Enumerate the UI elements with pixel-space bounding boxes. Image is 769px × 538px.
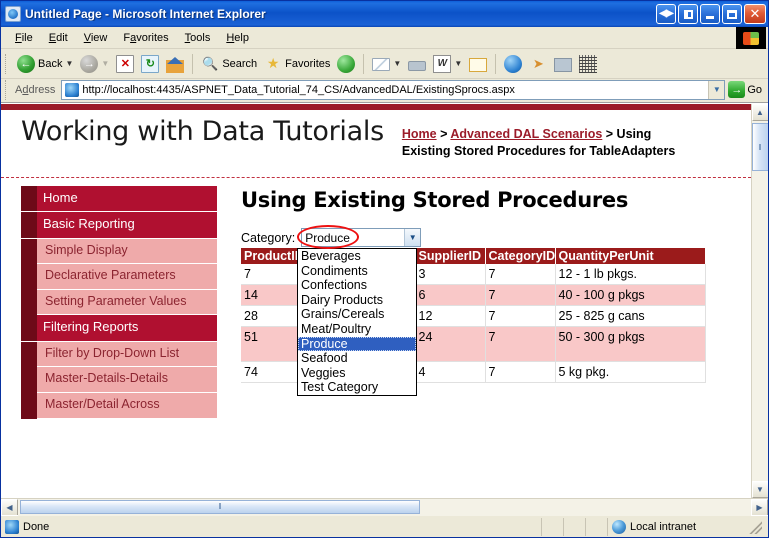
main-content: Using Existing Stored Procedures Categor… bbox=[241, 186, 751, 383]
menu-item-edit[interactable]: Edit bbox=[41, 30, 76, 46]
dropdown-option-test-category[interactable]: Test Category bbox=[298, 380, 416, 395]
dropdown-option-confections[interactable]: Confections bbox=[298, 278, 416, 293]
cell-quantityperunit: 50 - 300 g pkgs bbox=[555, 327, 705, 362]
maximize-icon bbox=[727, 10, 737, 19]
breadcrumb: Home > Advanced DAL Scenarios > Using Ex… bbox=[402, 116, 692, 159]
cell-supplierid: 24 bbox=[415, 327, 485, 362]
scroll-right-button[interactable]: ▶ bbox=[751, 499, 768, 516]
media-icon bbox=[337, 55, 355, 73]
sidebar-item-home[interactable]: Home bbox=[21, 186, 217, 212]
cell-supplierid: 4 bbox=[415, 362, 485, 383]
window-controls: ◀▶ ✕ bbox=[656, 4, 766, 24]
vertical-scroll-thumb[interactable]: ‖ bbox=[752, 123, 769, 171]
minimize-button[interactable] bbox=[700, 4, 720, 24]
close-icon: ✕ bbox=[750, 8, 761, 21]
cell-categoryid: 7 bbox=[485, 306, 555, 327]
grip-icon: ‖ bbox=[758, 143, 761, 152]
favorites-button[interactable]: ★ Favorites bbox=[261, 53, 333, 75]
research-icon bbox=[554, 58, 572, 72]
encoding-button[interactable] bbox=[576, 53, 600, 75]
dropdown-option-dairy-products[interactable]: Dairy Products bbox=[298, 293, 416, 308]
address-bar: Address http://localhost:4435/ASPNET_Dat… bbox=[1, 79, 768, 103]
menu-item-favorites[interactable]: Favorites bbox=[115, 30, 176, 46]
go-button[interactable]: → Go bbox=[725, 81, 766, 98]
cell-quantityperunit: 5 kg pkg. bbox=[555, 362, 705, 383]
address-url-text: http://localhost:4435/ASPNET_Data_Tutori… bbox=[82, 84, 708, 96]
stop-button[interactable]: ✕ bbox=[113, 53, 137, 75]
search-button[interactable]: 🔍 Search bbox=[198, 53, 260, 75]
address-input[interactable]: http://localhost:4435/ASPNET_Data_Tutori… bbox=[61, 80, 725, 100]
dropdown-option-condiments[interactable]: Condiments bbox=[298, 264, 416, 279]
menu-item-help[interactable]: Help bbox=[218, 30, 257, 46]
go-arrow-icon: → bbox=[728, 81, 745, 98]
page-body: Home Basic Reporting Simple Display Decl… bbox=[1, 178, 751, 419]
research-button[interactable] bbox=[551, 54, 575, 74]
address-dropdown-button[interactable]: ▼ bbox=[708, 81, 724, 99]
menu-item-file[interactable]: File bbox=[7, 30, 41, 46]
scroll-left-button[interactable]: ◀ bbox=[1, 499, 18, 516]
back-label: Back bbox=[38, 58, 62, 70]
dropdown-option-produce[interactable]: Produce bbox=[298, 337, 416, 352]
chevron-down-icon: ▼ bbox=[756, 485, 764, 494]
category-dropdown[interactable]: Produce ▼ bbox=[301, 228, 421, 247]
chevron-right-icon: ▶ bbox=[756, 503, 762, 512]
category-selected-value: Produce bbox=[302, 231, 404, 245]
notes-button[interactable] bbox=[466, 54, 490, 74]
encoding-icon bbox=[579, 55, 597, 73]
notes-icon bbox=[469, 58, 487, 72]
address-grip[interactable] bbox=[5, 80, 10, 100]
mail-button[interactable]: ▼ bbox=[369, 54, 404, 73]
edit-with-word-button[interactable]: W ▼ bbox=[430, 53, 465, 75]
scroll-down-button[interactable]: ▼ bbox=[752, 481, 769, 498]
cell-quantityperunit: 12 - 1 lb pkgs. bbox=[555, 264, 705, 285]
cell-categoryid: 7 bbox=[485, 327, 555, 362]
scroll-up-button[interactable]: ▲ bbox=[752, 104, 769, 121]
dropdown-option-veggies[interactable]: Veggies bbox=[298, 366, 416, 381]
status-pane-3 bbox=[586, 518, 608, 536]
sidebar-item-setting-parameter-values[interactable]: Setting Parameter Values bbox=[37, 290, 217, 316]
column-header-supplierid[interactable]: SupplierID bbox=[415, 248, 485, 264]
horizontal-scrollbar[interactable]: ◀ ‖ ▶ bbox=[1, 498, 768, 515]
cell-productid: 74 bbox=[241, 362, 297, 383]
breadcrumb-sep: > bbox=[602, 127, 616, 141]
status-pane-2 bbox=[564, 518, 586, 536]
sidebar-nav: Home Basic Reporting Simple Display Decl… bbox=[21, 186, 217, 419]
sidebar-item-master-detail-across[interactable]: Master/Detail Across bbox=[37, 393, 217, 419]
dropdown-option-meat-poultry[interactable]: Meat/Poultry bbox=[298, 322, 416, 337]
chevron-down-icon: ▼ bbox=[101, 59, 109, 68]
go-label: Go bbox=[747, 84, 762, 96]
menu-bar: File Edit View Favorites Tools Help bbox=[1, 27, 768, 49]
mail-icon bbox=[372, 58, 390, 71]
ie-browser-window: Untitled Page - Microsoft Internet Explo… bbox=[0, 0, 769, 538]
back-icon: ← bbox=[17, 55, 35, 73]
standard-toolbar: ← Back ▼ → ▼ ✕ ↻ 🔍 Search ★ Favorites bbox=[1, 49, 768, 79]
column-header-productid[interactable]: ProductID bbox=[241, 248, 297, 264]
toolbar-separator bbox=[363, 54, 364, 74]
security-zone-text: Local intranet bbox=[630, 521, 696, 533]
web-page-content: Working with Data Tutorials Home > Advan… bbox=[1, 104, 751, 498]
cell-categoryid: 7 bbox=[485, 285, 555, 306]
menu-item-tools[interactable]: Tools bbox=[177, 30, 219, 46]
left-right-arrows-icon: ◀▶ bbox=[659, 9, 672, 19]
back-button[interactable]: ← Back ▼ bbox=[14, 53, 76, 75]
home-button[interactable] bbox=[163, 53, 187, 75]
toolbar-separator bbox=[495, 54, 496, 74]
messenger-button[interactable] bbox=[501, 53, 525, 75]
restore-icon bbox=[684, 10, 693, 19]
chevron-down-icon[interactable]: ▼ bbox=[404, 229, 420, 246]
maximize-button[interactable] bbox=[722, 4, 742, 24]
status-text: Done bbox=[23, 521, 49, 533]
chevron-down-icon: ▼ bbox=[65, 59, 73, 68]
page-viewport: Working with Data Tutorials Home > Advan… bbox=[1, 103, 768, 498]
toolbar-separator bbox=[192, 54, 193, 74]
search-icon: 🔍 bbox=[201, 55, 219, 73]
chevron-up-icon: ▲ bbox=[756, 108, 764, 117]
page-icon bbox=[5, 520, 19, 534]
grip-icon: ‖ bbox=[218, 502, 221, 511]
address-label: Address bbox=[13, 84, 61, 96]
chevron-left-icon: ◀ bbox=[6, 503, 12, 512]
toolbar-grip[interactable] bbox=[5, 54, 10, 74]
globe-icon bbox=[612, 520, 626, 534]
page-icon bbox=[65, 83, 79, 97]
category-dropdown-options[interactable]: Beverages Condiments Confections Dairy P… bbox=[297, 248, 417, 396]
cell-quantityperunit: 25 - 825 g cans bbox=[555, 306, 705, 327]
status-message-pane: Done bbox=[1, 518, 542, 536]
dropdown-option-seafood[interactable]: Seafood bbox=[298, 351, 416, 366]
windows-logo-icon bbox=[736, 27, 766, 49]
forward-icon: → bbox=[80, 55, 98, 73]
refresh-icon: ↻ bbox=[141, 55, 159, 73]
resize-grip-icon[interactable] bbox=[748, 520, 762, 534]
chevron-down-icon: ▼ bbox=[713, 85, 721, 94]
page-header: Working with Data Tutorials Home > Advan… bbox=[1, 110, 751, 178]
media-button[interactable] bbox=[334, 53, 358, 75]
edit-with-word-icon: W bbox=[433, 55, 451, 73]
site-title: Working with Data Tutorials bbox=[21, 116, 384, 148]
search-label: Search bbox=[222, 58, 257, 70]
column-header-categoryid[interactable]: CategoryID bbox=[485, 248, 555, 264]
chevron-down-icon: ▼ bbox=[393, 59, 401, 68]
cell-categoryid: 7 bbox=[485, 264, 555, 285]
page-title: Using Existing Stored Procedures bbox=[241, 188, 745, 212]
horizontal-scroll-track[interactable]: ‖ bbox=[18, 499, 751, 516]
sidebar-item-simple-display[interactable]: Simple Display bbox=[37, 239, 217, 265]
breadcrumb-link-home[interactable]: Home bbox=[402, 127, 437, 141]
messenger-icon bbox=[504, 55, 522, 73]
chevron-down-icon: ▼ bbox=[454, 59, 462, 68]
restore-down-button[interactable] bbox=[678, 4, 698, 24]
stop-icon: ✕ bbox=[116, 55, 134, 73]
restore-split-button[interactable]: ◀▶ bbox=[656, 4, 676, 24]
status-bar: Done Local intranet bbox=[1, 515, 768, 537]
breadcrumb-sep: > bbox=[437, 127, 451, 141]
cell-supplierid: 12 bbox=[415, 306, 485, 327]
print-icon bbox=[408, 61, 426, 71]
title-bar: Untitled Page - Microsoft Internet Explo… bbox=[1, 1, 768, 27]
real-player-button[interactable]: ➤ bbox=[526, 53, 550, 75]
sidebar-item-filter-by-drop-down-list[interactable]: Filter by Drop-Down List bbox=[37, 342, 217, 368]
breadcrumb-link-section[interactable]: Advanced DAL Scenarios bbox=[450, 127, 602, 141]
forward-button[interactable]: → ▼ bbox=[77, 53, 112, 75]
print-button[interactable] bbox=[405, 55, 429, 73]
sidebar-item-master-details-details[interactable]: Master-Details-Details bbox=[37, 367, 217, 393]
status-pane-1 bbox=[542, 518, 564, 536]
cell-categoryid: 7 bbox=[485, 362, 555, 383]
cell-supplierid: 3 bbox=[415, 264, 485, 285]
cell-productid: 7 bbox=[241, 264, 297, 285]
close-button[interactable]: ✕ bbox=[744, 4, 766, 24]
minimize-icon bbox=[706, 16, 714, 19]
home-icon bbox=[166, 55, 184, 73]
favorites-star-icon: ★ bbox=[264, 55, 282, 73]
cell-supplierid: 6 bbox=[415, 285, 485, 306]
menu-item-view[interactable]: View bbox=[76, 30, 116, 46]
sidebar-item-filtering-reports[interactable]: Filtering Reports bbox=[21, 315, 217, 341]
window-title: Untitled Page - Microsoft Internet Explo… bbox=[25, 7, 656, 21]
cell-productid: 14 bbox=[241, 285, 297, 306]
category-filter-row: Category: Produce ▼ Beverages Condiments… bbox=[241, 228, 745, 247]
column-header-quantityperunit[interactable]: QuantityPerUnit bbox=[555, 248, 705, 264]
vertical-scrollbar[interactable]: ▲ ‖ ▼ bbox=[751, 104, 768, 498]
dropdown-option-beverages[interactable]: Beverages bbox=[298, 249, 416, 264]
cell-productid: 28 bbox=[241, 306, 297, 327]
real-icon: ➤ bbox=[529, 55, 547, 73]
refresh-button[interactable]: ↻ bbox=[138, 53, 162, 75]
ie-window-icon bbox=[5, 6, 21, 22]
cell-quantityperunit: 40 - 100 g pkgs bbox=[555, 285, 705, 306]
horizontal-scroll-thumb[interactable]: ‖ bbox=[20, 500, 420, 514]
sidebar-item-basic-reporting[interactable]: Basic Reporting bbox=[21, 212, 217, 238]
category-label: Category: bbox=[241, 231, 295, 245]
security-zone-pane[interactable]: Local intranet bbox=[608, 518, 768, 536]
cell-productid: 51 bbox=[241, 327, 297, 362]
dropdown-option-grains-cereals[interactable]: Grains/Cereals bbox=[298, 307, 416, 322]
sidebar-item-declarative-parameters[interactable]: Declarative Parameters bbox=[37, 264, 217, 290]
favorites-label: Favorites bbox=[285, 58, 330, 70]
vertical-scroll-track[interactable]: ‖ bbox=[752, 121, 769, 481]
